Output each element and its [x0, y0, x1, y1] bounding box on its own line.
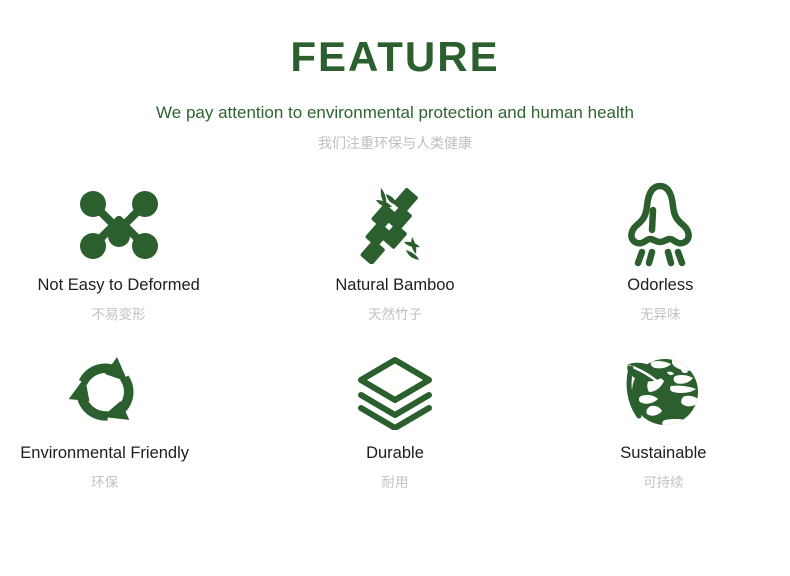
- feature-label: Natural Bamboo: [335, 276, 454, 296]
- feature-label: Sustainable: [620, 444, 706, 464]
- feature-label-chinese: 环保: [91, 475, 118, 491]
- feature-item-natural-bamboo: Natural Bamboo 天然竹子: [263, 178, 526, 346]
- feature-item-not-easy-to-deformed: Not Easy to Deformed 不易变形: [0, 178, 250, 346]
- feature-label-chinese: 无异味: [640, 307, 681, 323]
- feature-label-chinese: 天然竹子: [368, 307, 422, 323]
- feature-label-chinese: 耐用: [381, 475, 408, 491]
- feature-item-odorless: Odorless 无异味: [529, 178, 790, 346]
- feature-item-environmental-friendly: Environmental Friendly 环保: [0, 346, 236, 508]
- subtitle-chinese: 我们注重环保与人类健康: [0, 135, 790, 152]
- feature-label: Not Easy to Deformed: [38, 276, 200, 296]
- globe-leaf-icon: [621, 346, 705, 438]
- feature-item-durable: Durable 耐用: [263, 346, 526, 508]
- feature-row-top: Not Easy to Deformed 不易变形: [0, 178, 790, 346]
- feature-row-bottom: Environmental Friendly 环保 Durable 耐用: [0, 346, 790, 508]
- feature-label: Durable: [366, 444, 424, 464]
- page-title: FEATURE: [0, 34, 790, 79]
- section-header: FEATURE We pay attention to environmenta…: [0, 0, 790, 152]
- nose-icon: [623, 178, 697, 270]
- subtitle-english: We pay attention to environmental protec…: [0, 103, 790, 123]
- feature-section: FEATURE We pay attention to environmenta…: [0, 0, 790, 576]
- layers-stack-icon: [355, 346, 435, 438]
- feature-label: Odorless: [627, 276, 693, 296]
- molecule-nodes-icon: [76, 178, 162, 270]
- feature-grid: Not Easy to Deformed 不易变形: [0, 178, 790, 508]
- feature-label-chinese: 不易变形: [92, 307, 146, 323]
- bamboo-icon: [356, 178, 434, 270]
- feature-item-sustainable: Sustainable 可持续: [532, 346, 790, 508]
- recycle-icon: [62, 346, 148, 438]
- feature-label: Environmental Friendly: [20, 444, 189, 464]
- feature-label-chinese: 可持续: [643, 475, 684, 491]
